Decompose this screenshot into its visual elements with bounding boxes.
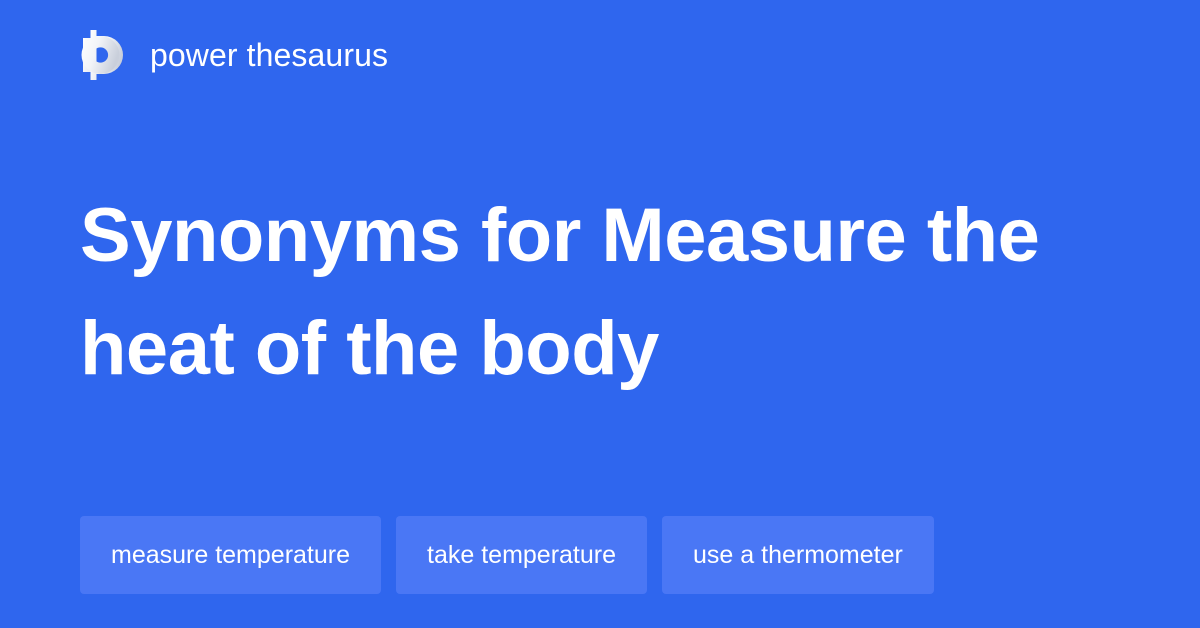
synonym-chip-list: measure temperature take temperature use… [80,516,1120,594]
synonym-chip[interactable]: take temperature [396,516,647,594]
headline-container: Synonyms for Measure the heat of the bod… [80,67,1120,516]
synonym-chip[interactable]: use a thermometer [662,516,934,594]
page-title: Synonyms for Measure the heat of the bod… [80,179,1120,405]
synonym-chip[interactable]: measure temperature [80,516,381,594]
og-card: power thesaurus Synonyms for Measure the… [0,0,1200,628]
